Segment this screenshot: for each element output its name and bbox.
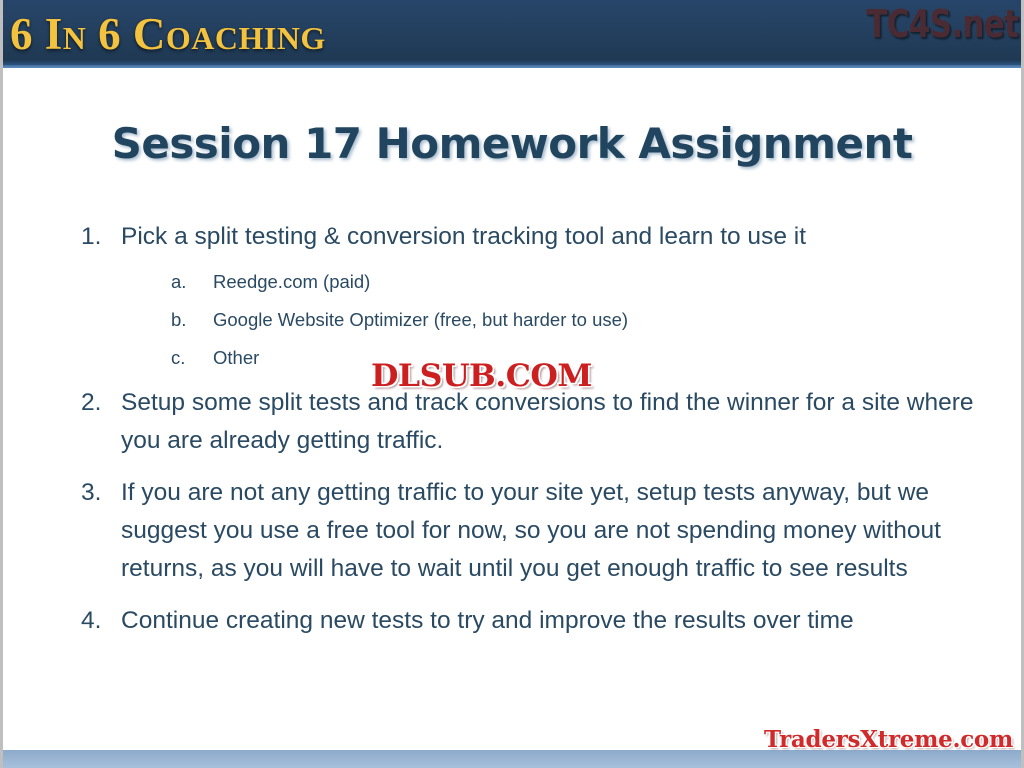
list-item-marker: b. bbox=[171, 302, 213, 337]
spacer bbox=[79, 462, 984, 474]
footer-brand-tradersxtreme: TradersXtreme.com bbox=[764, 726, 1013, 754]
list-item-marker: 1. bbox=[79, 218, 121, 256]
list-item-marker: 3. bbox=[79, 474, 121, 512]
list-item: 1. Pick a split testing & conversion tra… bbox=[79, 218, 984, 256]
list-item-text: Reedge.com (paid) bbox=[213, 264, 370, 299]
list-item-text: Setup some split tests and track convers… bbox=[121, 384, 984, 460]
list-item-marker: c. bbox=[171, 340, 213, 375]
list-item-text: Pick a split testing & conversion tracki… bbox=[121, 218, 984, 256]
page-title: Session 17 Homework Assignment bbox=[3, 118, 1021, 170]
list-item: a. Reedge.com (paid) bbox=[171, 264, 984, 299]
list-item: b. Google Website Optimizer (free, but h… bbox=[171, 302, 984, 337]
homework-task-list: 1. Pick a split testing & conversion tra… bbox=[79, 218, 984, 642]
list-item-marker: 2. bbox=[79, 384, 121, 422]
slide-header-banner: 6 In 6 Coaching TC4S.net bbox=[0, 0, 1024, 68]
dlsub-watermark: DLSUB.COM bbox=[371, 358, 592, 394]
presentation-slide: 6 In 6 Coaching TC4S.net Session 17 Home… bbox=[0, 0, 1024, 768]
list-item-text: Other bbox=[213, 340, 259, 375]
list-item-text: Continue creating new tests to try and i… bbox=[121, 602, 984, 640]
brand-logo-tc4s-net: TC4S.net bbox=[866, 2, 1018, 46]
brand-logo-6in6-coaching: 6 In 6 Coaching bbox=[10, 6, 326, 62]
list-item-marker: 4. bbox=[79, 602, 121, 640]
list-item-marker: a. bbox=[171, 264, 213, 299]
list-item: 2. Setup some split tests and track conv… bbox=[79, 384, 984, 460]
list-item-text: If you are not any getting traffic to yo… bbox=[121, 474, 984, 588]
list-item: 3. If you are not any getting traffic to… bbox=[79, 474, 984, 588]
spacer bbox=[79, 590, 984, 602]
list-item-text: Google Website Optimizer (free, but hard… bbox=[213, 302, 628, 337]
list-item: 4. Continue creating new tests to try an… bbox=[79, 602, 984, 640]
